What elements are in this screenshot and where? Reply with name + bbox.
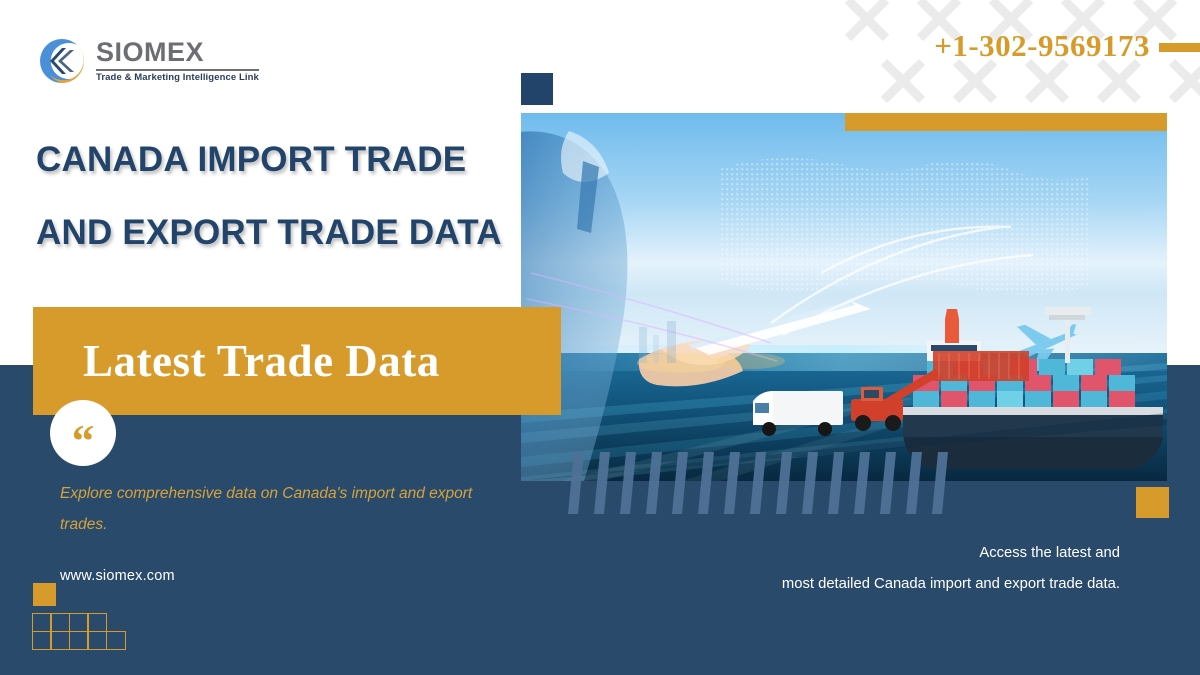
gold-square-accent-bottom-left: [33, 583, 56, 606]
grid-decoration: [33, 613, 126, 650]
grid-cell: [87, 631, 107, 650]
siomex-swoosh-icon: [36, 35, 88, 87]
gold-rule-top-right: [1159, 43, 1200, 52]
grid-cell: [69, 631, 89, 650]
bottom-right-description: Access the latest and most detailed Cana…: [600, 538, 1120, 600]
grid-cell: [106, 631, 126, 650]
grid-cell: [50, 631, 70, 650]
hero-illustration: [521, 113, 1167, 481]
siomex-logo[interactable]: SIOMEX Trade & Marketing Intelligence Li…: [36, 32, 266, 90]
subtitle-text: Explore comprehensive data on Canada's i…: [60, 478, 500, 540]
logo-wordmark: SIOMEX: [96, 39, 259, 66]
navy-square-accent: [521, 73, 553, 105]
grid-cell: [32, 613, 52, 632]
grid-cell: [32, 631, 52, 650]
website-url[interactable]: www.siomex.com: [60, 568, 175, 584]
bottom-right-line-1: Access the latest and: [600, 538, 1120, 569]
logo-divider: [96, 69, 259, 71]
diagonal-slash-decoration: [568, 452, 968, 514]
page-title: CANADA IMPORT TRADE AND EXPORT TRADE DAT…: [36, 142, 506, 250]
banner-label: Latest Trade Data: [83, 335, 440, 387]
logo-tagline: Trade & Marketing Intelligence Link: [96, 73, 259, 83]
bottom-right-line-2: most detailed Canada import and export t…: [600, 569, 1120, 600]
grid-cell: [87, 613, 107, 632]
title-line-2: AND EXPORT TRADE DATA: [36, 215, 506, 250]
latest-trade-data-banner: Latest Trade Data: [33, 307, 561, 415]
grid-row: [33, 632, 126, 650]
gold-bar-over-hero: [845, 113, 1167, 131]
gold-square-accent-right: [1136, 487, 1169, 518]
hero-image: [521, 113, 1167, 481]
grid-cell: [50, 613, 70, 632]
quote-mark-icon: “: [72, 419, 95, 464]
grid-cell: [69, 613, 89, 632]
title-line-1: CANADA IMPORT TRADE: [36, 142, 506, 177]
grid-row: [33, 613, 126, 632]
quote-badge: “: [50, 400, 116, 466]
slide-canvas: SIOMEX Trade & Marketing Intelligence Li…: [0, 0, 1200, 675]
phone-number[interactable]: +1-302-9569173: [900, 28, 1150, 64]
